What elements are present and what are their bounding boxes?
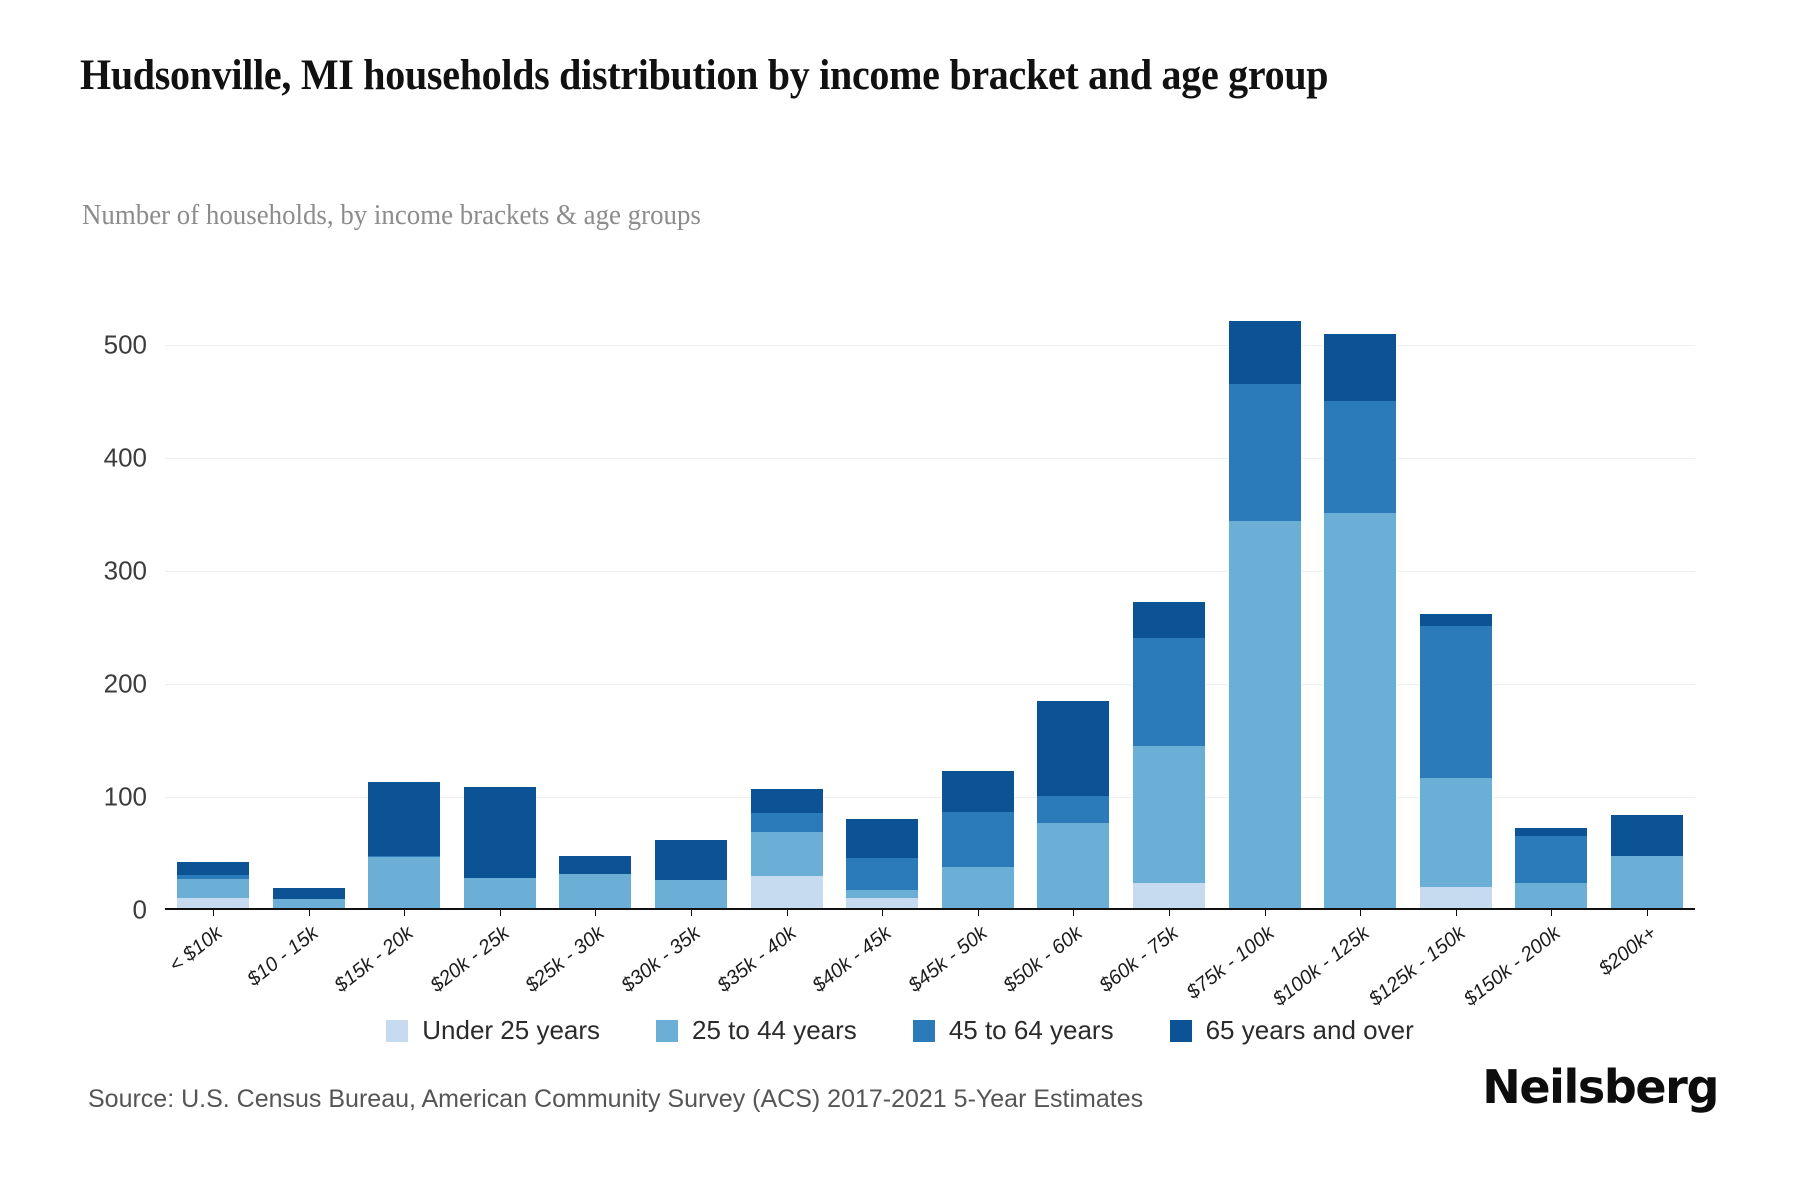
bar-series-container: < $10k$10 - 15k$15k - 20k$20k - 25k$25k … [165, 300, 1695, 908]
y-axis-tick-label: 500 [104, 330, 147, 361]
bar-group[interactable]: $35k - 40k [751, 300, 823, 908]
bar-segment[interactable] [655, 880, 727, 908]
bar-segment[interactable] [1611, 815, 1683, 856]
bar-segment[interactable] [464, 878, 536, 909]
x-axis-tick-label: < $10k [165, 922, 227, 977]
legend-label: Under 25 years [422, 1015, 600, 1046]
x-axis-tick-label: $45k - 50k [904, 922, 992, 998]
legend-swatch [1170, 1020, 1192, 1042]
bar-segment[interactable] [1515, 836, 1587, 883]
bar-group[interactable]: $125k - 150k [1420, 300, 1492, 908]
bar-segment[interactable] [1037, 796, 1109, 823]
bar-group[interactable]: $60k - 75k [1133, 300, 1205, 908]
bar-segment[interactable] [1420, 626, 1492, 779]
legend-item[interactable]: 25 to 44 years [656, 1015, 857, 1046]
legend-item[interactable]: Under 25 years [386, 1015, 600, 1046]
bar-segment[interactable] [1133, 602, 1205, 638]
bar-group[interactable]: $40k - 45k [846, 300, 918, 908]
bar-group[interactable]: $25k - 30k [559, 300, 631, 908]
bar-group[interactable]: $10 - 15k [273, 300, 345, 908]
bar-segment[interactable] [1229, 521, 1301, 908]
bar-group[interactable]: < $10k [177, 300, 249, 908]
bar-segment[interactable] [177, 862, 249, 876]
bar-group[interactable]: $75k - 100k [1229, 300, 1301, 908]
x-axis-tick-label: $10 - 15k [243, 922, 323, 991]
legend-label: 65 years and over [1206, 1015, 1414, 1046]
bar-segment[interactable] [1229, 321, 1301, 384]
bar-segment[interactable] [1420, 887, 1492, 908]
legend-swatch [386, 1020, 408, 1042]
chart-page: Hudsonville, MI households distribution … [0, 0, 1800, 1200]
legend-label: 45 to 64 years [949, 1015, 1114, 1046]
bar-segment[interactable] [846, 898, 918, 908]
x-axis-tick-label: $20k - 25k [426, 922, 514, 998]
bar-segment[interactable] [368, 857, 440, 908]
bar-segment[interactable] [751, 832, 823, 876]
bar-segment[interactable] [1324, 401, 1396, 513]
bar-segment[interactable] [1324, 513, 1396, 908]
bar-segment[interactable] [177, 879, 249, 898]
x-axis-tick-label: $50k - 60k [1000, 922, 1088, 998]
bar-segment[interactable] [942, 812, 1014, 867]
x-axis-tick-label: $40k - 45k [809, 922, 897, 998]
x-axis-tick-label: $125k - 150k [1365, 922, 1470, 1011]
bar-group[interactable]: $45k - 50k [942, 300, 1014, 908]
bar-segment[interactable] [942, 867, 1014, 908]
x-axis-tick-label: $200k+ [1595, 922, 1661, 981]
legend-swatch [656, 1020, 678, 1042]
legend-item[interactable]: 65 years and over [1170, 1015, 1414, 1046]
bar-group[interactable]: $15k - 20k [368, 300, 440, 908]
bar-segment[interactable] [846, 890, 918, 898]
legend-label: 25 to 44 years [692, 1015, 857, 1046]
bar-segment[interactable] [1133, 638, 1205, 746]
x-axis-line [165, 908, 1695, 910]
bar-group[interactable]: $50k - 60k [1037, 300, 1109, 908]
bar-group[interactable]: $30k - 35k [655, 300, 727, 908]
bar-segment[interactable] [1420, 778, 1492, 886]
x-axis-tick-label: $25k - 30k [522, 922, 610, 998]
plot-area: 0100200300400500 < $10k$10 - 15k$15k - 2… [165, 300, 1695, 910]
bar-group[interactable]: $150k - 200k [1515, 300, 1587, 908]
page-title: Hudsonville, MI households distribution … [80, 48, 1587, 103]
bar-segment[interactable] [1611, 856, 1683, 908]
bar-segment[interactable] [559, 856, 631, 874]
y-axis-tick-label: 100 [104, 782, 147, 813]
bar-segment[interactable] [751, 789, 823, 813]
bar-segment[interactable] [1515, 828, 1587, 836]
bar-segment[interactable] [846, 819, 918, 859]
x-axis-tick-label: $35k - 40k [713, 922, 801, 998]
bar-segment[interactable] [846, 858, 918, 890]
x-axis-tick-label: $150k - 200k [1460, 922, 1565, 1011]
bar-segment[interactable] [1133, 883, 1205, 908]
bar-segment[interactable] [464, 787, 536, 877]
bar-segment[interactable] [177, 898, 249, 908]
x-axis-tick-label: $60k - 75k [1095, 922, 1183, 998]
y-axis-tick-label: 0 [133, 895, 147, 926]
page-subtitle: Number of households, by income brackets… [82, 200, 1426, 232]
x-axis-tick-label: $100k - 125k [1269, 922, 1374, 1011]
bar-segment[interactable] [1324, 334, 1396, 401]
bar-segment[interactable] [1515, 883, 1587, 908]
bar-segment[interactable] [1037, 823, 1109, 908]
x-axis-tick-label: $30k - 35k [617, 922, 705, 998]
x-axis-tick-label: $75k - 100k [1182, 922, 1279, 1004]
chart-legend: Under 25 years25 to 44 years45 to 64 yea… [0, 1015, 1800, 1046]
bar-group[interactable]: $20k - 25k [464, 300, 536, 908]
bar-segment[interactable] [751, 813, 823, 832]
source-note: Source: U.S. Census Bureau, American Com… [88, 1085, 1143, 1114]
bar-segment[interactable] [751, 876, 823, 908]
bar-segment[interactable] [1229, 384, 1301, 521]
legend-item[interactable]: 45 to 64 years [913, 1015, 1114, 1046]
bar-segment[interactable] [273, 899, 345, 908]
bar-segment[interactable] [368, 782, 440, 857]
y-axis-tick-label: 300 [104, 556, 147, 587]
bar-group[interactable]: $200k+ [1611, 300, 1683, 908]
bar-segment[interactable] [1420, 614, 1492, 625]
bar-segment[interactable] [273, 888, 345, 899]
bar-segment[interactable] [1037, 701, 1109, 796]
x-axis-tick-label: $15k - 20k [331, 922, 419, 998]
bar-segment[interactable] [559, 874, 631, 908]
legend-swatch [913, 1020, 935, 1042]
y-axis-tick-label: 400 [104, 443, 147, 474]
y-axis-tick-label: 200 [104, 669, 147, 700]
brand-logo: Neilsberg [1482, 1060, 1718, 1114]
bar-group[interactable]: $100k - 125k [1324, 300, 1396, 908]
bar-segment[interactable] [942, 771, 1014, 812]
bar-segment[interactable] [1133, 746, 1205, 883]
bar-segment[interactable] [655, 840, 727, 880]
